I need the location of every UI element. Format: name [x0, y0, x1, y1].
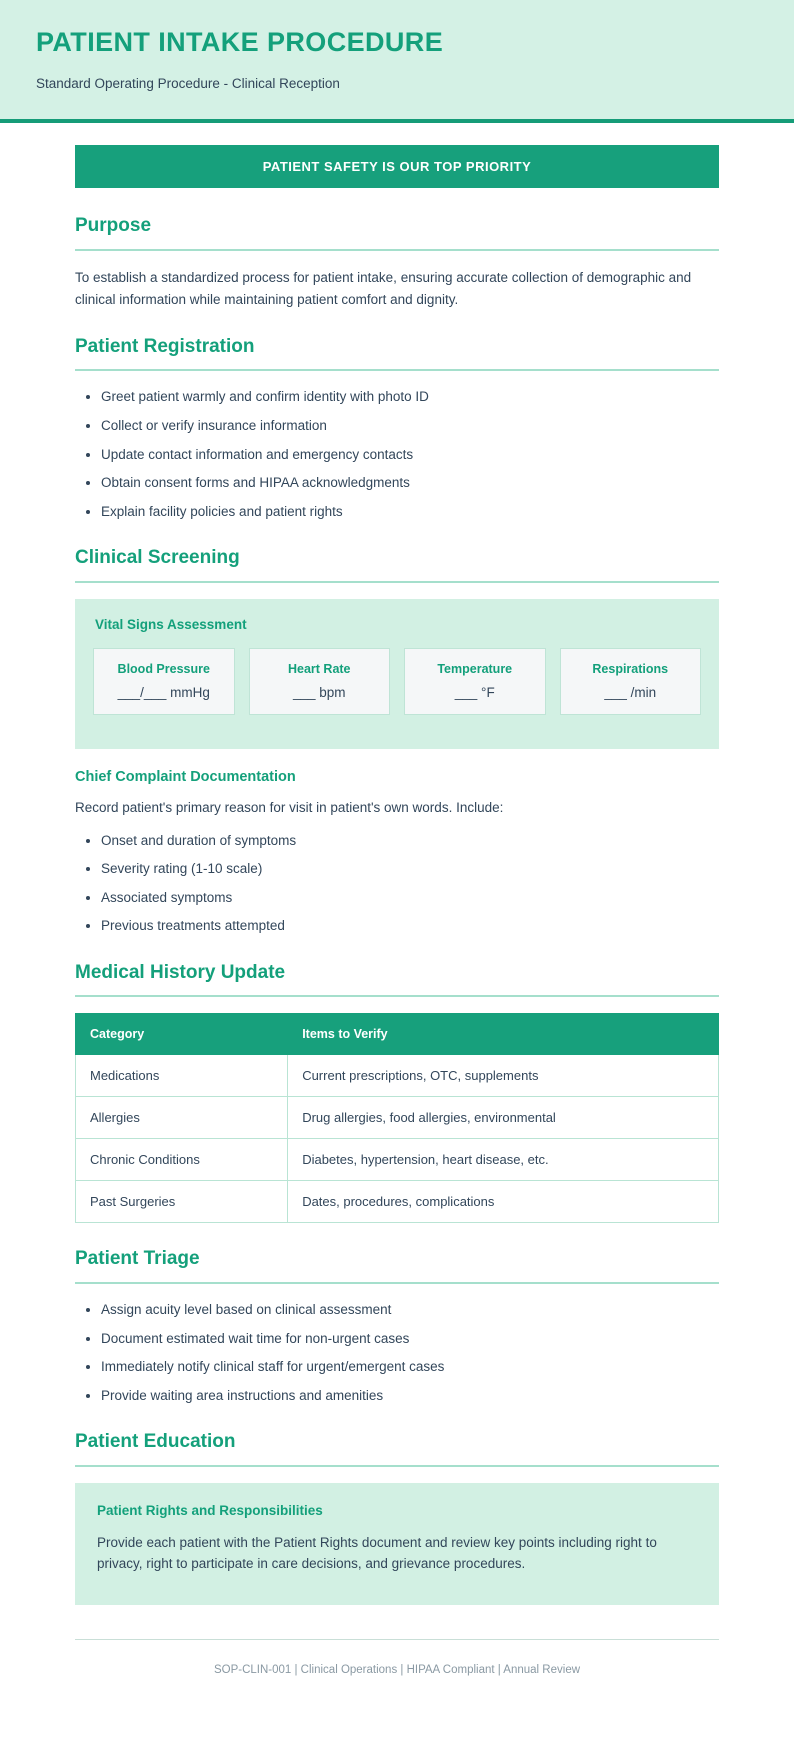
section-divider [75, 1465, 719, 1467]
patient-rights-highlight-box: Patient Rights and Responsibilities Prov… [75, 1483, 719, 1605]
document-content: PATIENT SAFETY IS OUR TOP PRIORITY Purpo… [0, 123, 794, 1605]
table-cell-items: Dates, procedures, complications [288, 1181, 719, 1223]
vital-card-blood-pressure[interactable]: Blood Pressure ___/___ mmHg [93, 648, 235, 715]
vital-card-label: Respirations [567, 662, 695, 676]
table-cell-category: Chronic Conditions [76, 1139, 288, 1181]
list-item: Document estimated wait time for non-urg… [101, 1329, 719, 1350]
list-item: Severity rating (1-10 scale) [101, 859, 719, 880]
document-footer: SOP-CLIN-001 | Clinical Operations | HIP… [75, 1639, 719, 1678]
vital-card-label: Temperature [411, 662, 539, 676]
list-item: Obtain consent forms and HIPAA acknowled… [101, 473, 719, 494]
table-header: Category Items to Verify [76, 1014, 719, 1055]
section-divider [75, 249, 719, 251]
vital-signs-card-row: Blood Pressure ___/___ mmHg Heart Rate _… [93, 648, 701, 715]
table-cell-items: Diabetes, hypertension, heart disease, e… [288, 1139, 719, 1181]
list-item: Onset and duration of symptoms [101, 831, 719, 852]
subsection-heading-chief-complaint: Chief Complaint Documentation [75, 769, 719, 785]
table-row: Chronic Conditions Diabetes, hypertensio… [76, 1139, 719, 1181]
section-divider [75, 995, 719, 997]
patient-rights-title: Patient Rights and Responsibilities [97, 1503, 697, 1518]
table-header-row: Category Items to Verify [76, 1014, 719, 1055]
table-column-header-category: Category [76, 1014, 288, 1055]
section-heading-patient-triage: Patient Triage [75, 1247, 719, 1272]
vital-card-label: Blood Pressure [100, 662, 228, 676]
vital-card-temperature[interactable]: Temperature ___ °F [404, 648, 546, 715]
table-row: Past Surgeries Dates, procedures, compli… [76, 1181, 719, 1223]
chief-complaint-list: Onset and duration of symptoms Severity … [75, 831, 719, 937]
safety-callout-bar: PATIENT SAFETY IS OUR TOP PRIORITY [75, 145, 719, 188]
section-heading-medical-history-update: Medical History Update [75, 961, 719, 986]
vital-signs-panel-title: Vital Signs Assessment [95, 617, 701, 632]
patient-registration-list: Greet patient warmly and confirm identit… [75, 387, 719, 522]
list-item: Assign acuity level based on clinical as… [101, 1300, 719, 1321]
medical-history-table: Category Items to Verify Medications Cur… [75, 1013, 719, 1223]
vital-card-value: ___ °F [411, 685, 539, 700]
list-item: Collect or verify insurance information [101, 416, 719, 437]
patient-triage-list: Assign acuity level based on clinical as… [75, 1300, 719, 1406]
purpose-paragraph: To establish a standardized process for … [75, 267, 719, 311]
table-cell-items: Drug allergies, food allergies, environm… [288, 1097, 719, 1139]
section-divider [75, 369, 719, 371]
section-medical-history-update: Medical History Update Category Items to… [75, 961, 719, 1224]
section-patient-registration: Patient Registration Greet patient warml… [75, 335, 719, 522]
vital-card-value: ___/___ mmHg [100, 685, 228, 700]
section-heading-clinical-screening: Clinical Screening [75, 546, 719, 571]
page-subtitle: Standard Operating Procedure - Clinical … [36, 76, 758, 91]
list-item: Provide waiting area instructions and am… [101, 1386, 719, 1407]
section-heading-purpose: Purpose [75, 214, 719, 239]
vital-card-label: Heart Rate [256, 662, 384, 676]
vital-card-value: ___ bpm [256, 685, 384, 700]
vital-card-respirations[interactable]: Respirations ___ /min [560, 648, 702, 715]
section-divider [75, 1282, 719, 1284]
table-row: Allergies Drug allergies, food allergies… [76, 1097, 719, 1139]
table-cell-items: Current prescriptions, OTC, supplements [288, 1055, 719, 1097]
document-header: PATIENT INTAKE PROCEDURE Standard Operat… [0, 0, 794, 123]
vital-card-value: ___ /min [567, 685, 695, 700]
list-item: Associated symptoms [101, 888, 719, 909]
list-item: Explain facility policies and patient ri… [101, 502, 719, 523]
list-item: Greet patient warmly and confirm identit… [101, 387, 719, 408]
table-column-header-items: Items to Verify [288, 1014, 719, 1055]
section-patient-education: Patient Education Patient Rights and Res… [75, 1430, 719, 1605]
table-body: Medications Current prescriptions, OTC, … [76, 1055, 719, 1223]
footer-text: SOP-CLIN-001 | Clinical Operations | HIP… [214, 1664, 580, 1676]
list-item: Update contact information and emergency… [101, 445, 719, 466]
section-purpose: Purpose To establish a standardized proc… [75, 214, 719, 310]
table-row: Medications Current prescriptions, OTC, … [76, 1055, 719, 1097]
section-heading-patient-registration: Patient Registration [75, 335, 719, 360]
table-cell-category: Medications [76, 1055, 288, 1097]
section-heading-patient-education: Patient Education [75, 1430, 719, 1455]
page-title: PATIENT INTAKE PROCEDURE [36, 26, 758, 58]
vital-card-heart-rate[interactable]: Heart Rate ___ bpm [249, 648, 391, 715]
patient-rights-text: Provide each patient with the Patient Ri… [97, 1532, 697, 1575]
section-patient-triage: Patient Triage Assign acuity level based… [75, 1247, 719, 1406]
list-item: Previous treatments attempted [101, 916, 719, 937]
table-cell-category: Past Surgeries [76, 1181, 288, 1223]
list-item: Immediately notify clinical staff for ur… [101, 1357, 719, 1378]
table-cell-category: Allergies [76, 1097, 288, 1139]
section-divider [75, 581, 719, 583]
section-clinical-screening: Clinical Screening Vital Signs Assessmen… [75, 546, 719, 937]
chief-complaint-paragraph: Record patient's primary reason for visi… [75, 797, 719, 819]
vital-signs-panel: Vital Signs Assessment Blood Pressure __… [75, 599, 719, 749]
